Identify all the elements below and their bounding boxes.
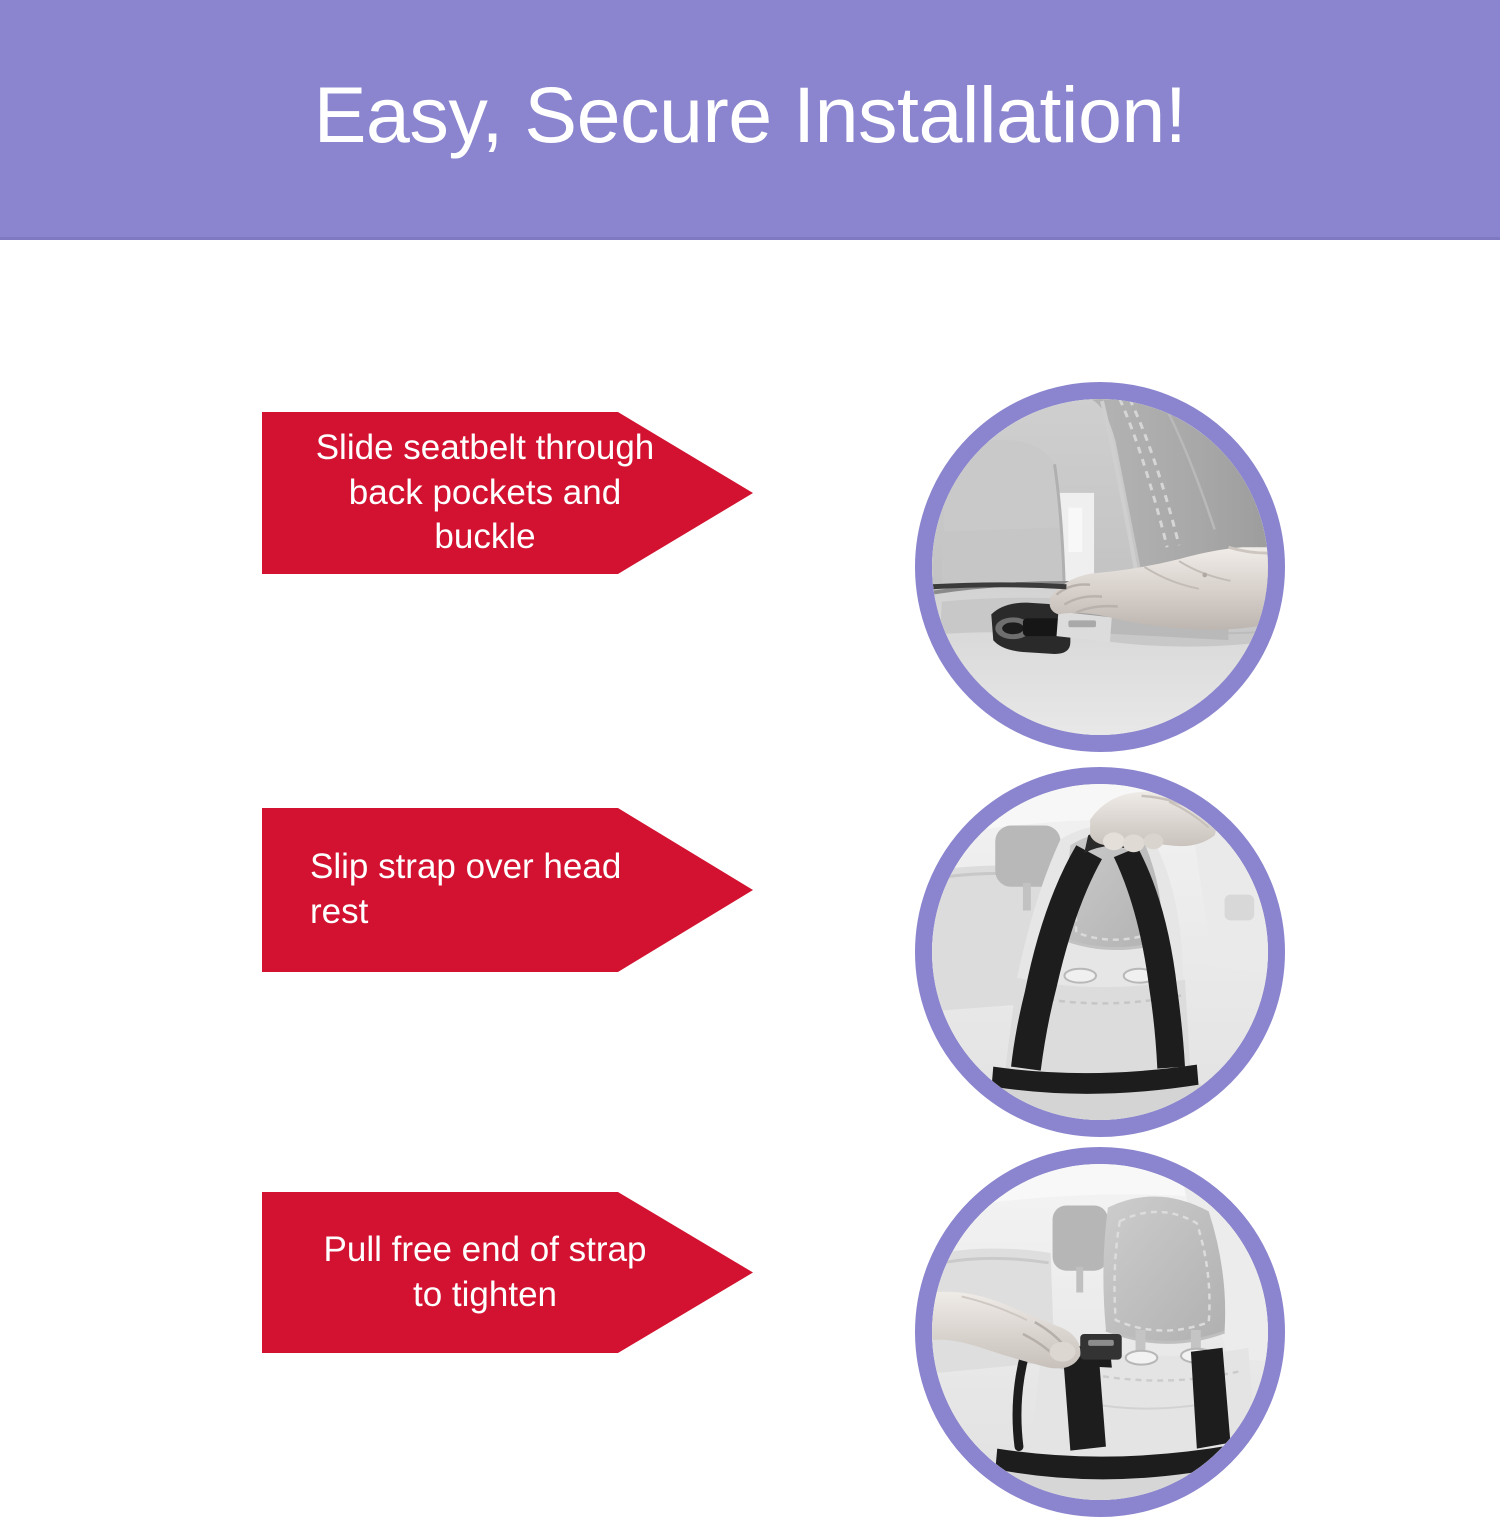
installation-steps: Slide seatbelt through back pockets and … <box>0 243 1500 1450</box>
header-banner: Easy, Secure Installation! <box>0 0 1500 240</box>
step-callout-1: Slide seatbelt through back pockets and … <box>262 412 753 574</box>
step-callout-3-line-1: Pull free end of strap <box>298 1228 672 1273</box>
step-callout-2: Slip strap over head rest <box>262 808 753 972</box>
step-callout-2-line-1: Slip strap over head rest <box>310 845 672 935</box>
step-callout-3: Pull free end of strap to tighten <box>262 1192 753 1353</box>
seatbelt-buckle-photo <box>932 399 1268 735</box>
step-row: Pull free end of strap to tighten <box>0 1073 1500 1450</box>
step-callout-2-text: Slip strap over head rest <box>262 845 682 935</box>
step-callout-3-line-2: to tighten <box>298 1273 672 1318</box>
strap-over-headrest-photo <box>932 784 1268 1120</box>
step-photo-circle-3 <box>915 1147 1285 1517</box>
step-row: Slide seatbelt through back pockets and … <box>0 303 1500 703</box>
step-callout-1-text: Slide seatbelt through back pockets and … <box>262 426 682 560</box>
step-callout-1-line-2: back pockets and buckle <box>298 471 672 561</box>
step-row: Slip strap over head rest <box>0 688 1500 1088</box>
page-title: Easy, Secure Installation! <box>314 75 1187 154</box>
step-callout-3-text: Pull free end of strap to tighten <box>262 1228 682 1318</box>
step-callout-1-line-1: Slide seatbelt through <box>298 426 672 471</box>
